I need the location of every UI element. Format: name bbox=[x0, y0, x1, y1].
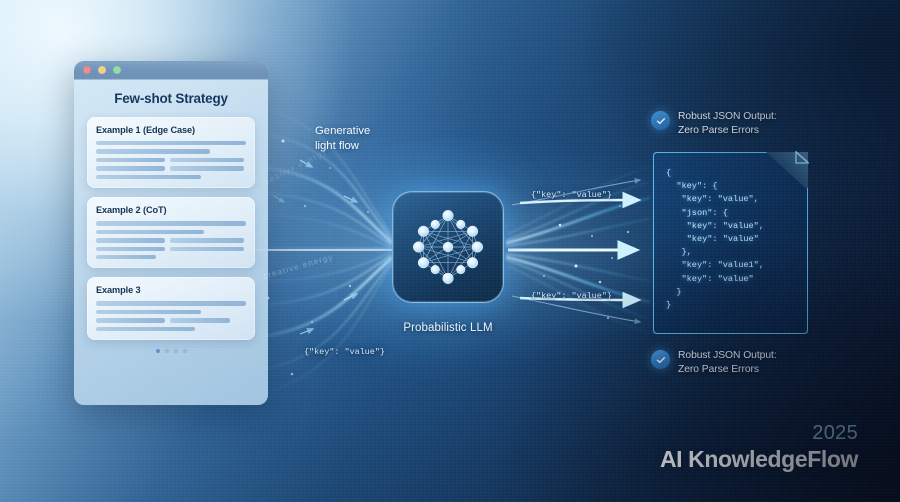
few-shot-strategy-window[interactable]: Few-shot Strategy Example 1 (Edge Case) … bbox=[74, 61, 268, 405]
illustration-canvas: Few-shot Strategy Example 1 (Edge Case) … bbox=[0, 0, 900, 502]
placeholder-lines bbox=[96, 141, 246, 179]
code-label-key-value: {"key": "value"} bbox=[304, 347, 385, 357]
probabilistic-llm-node[interactable] bbox=[392, 191, 504, 303]
callout-robust-json-top: Robust JSON Output: Zero Parse Errors bbox=[651, 110, 777, 137]
callout-robust-json-bottom: Robust JSON Output: Zero Parse Errors bbox=[651, 349, 777, 376]
example-card-3[interactable]: Example 3 bbox=[87, 277, 255, 340]
pager-dot-1[interactable] bbox=[156, 349, 160, 353]
example-card-title: Example 2 (CoT) bbox=[96, 205, 246, 215]
window-titlebar bbox=[74, 61, 268, 80]
callout-line2: Zero Parse Errors bbox=[678, 125, 759, 136]
json-output-document[interactable]: { "key": { "key": "value", "json": { "ke… bbox=[653, 152, 808, 334]
callout-line1: Robust JSON Output: bbox=[678, 111, 777, 122]
flow-label-line2: light flow bbox=[315, 139, 405, 154]
pager-dot-4[interactable] bbox=[183, 349, 187, 353]
json-body-text: { "key": { "key": "value", "json": { "ke… bbox=[666, 167, 800, 312]
code-label-key-value: {"key": "value"} bbox=[531, 291, 612, 301]
minimize-dot[interactable] bbox=[98, 66, 106, 74]
pagination-dots[interactable] bbox=[87, 349, 255, 353]
pager-dot-3[interactable] bbox=[174, 349, 178, 353]
close-dot[interactable] bbox=[83, 66, 91, 74]
window-body: Few-shot Strategy Example 1 (Edge Case) … bbox=[74, 80, 268, 353]
placeholder-lines bbox=[96, 301, 246, 331]
callout-line1: Robust JSON Output: bbox=[678, 350, 777, 361]
generative-light-flow-label: Generative light flow bbox=[315, 124, 405, 153]
check-circle-icon bbox=[651, 111, 670, 130]
page-title: Few-shot Strategy bbox=[87, 91, 255, 106]
llm-label: Probabilistic LLM bbox=[330, 322, 566, 334]
ghost-text-creative-energy: creative energy bbox=[262, 252, 334, 281]
neural-network-icon bbox=[393, 192, 503, 302]
brand-name: AI KnowledgeFlow bbox=[660, 446, 858, 473]
flow-label-line1: Generative bbox=[315, 124, 405, 139]
check-circle-icon bbox=[651, 350, 670, 369]
callout-line2: Zero Parse Errors bbox=[678, 364, 759, 375]
pager-dot-2[interactable] bbox=[165, 349, 169, 353]
maximize-dot[interactable] bbox=[113, 66, 121, 74]
example-card-title: Example 1 (Edge Case) bbox=[96, 125, 246, 135]
ghost-text-creative-energy: creative energy bbox=[260, 147, 329, 188]
code-label-key-value: {"key": "value"} bbox=[531, 190, 612, 200]
callout-text: Robust JSON Output: Zero Parse Errors bbox=[678, 349, 777, 376]
placeholder-lines bbox=[96, 221, 246, 259]
callout-text: Robust JSON Output: Zero Parse Errors bbox=[678, 110, 777, 137]
example-card-title: Example 3 bbox=[96, 285, 246, 295]
example-card-1[interactable]: Example 1 (Edge Case) bbox=[87, 117, 255, 188]
example-card-2[interactable]: Example 2 (CoT) bbox=[87, 197, 255, 268]
brand-year: 2025 bbox=[812, 422, 858, 445]
